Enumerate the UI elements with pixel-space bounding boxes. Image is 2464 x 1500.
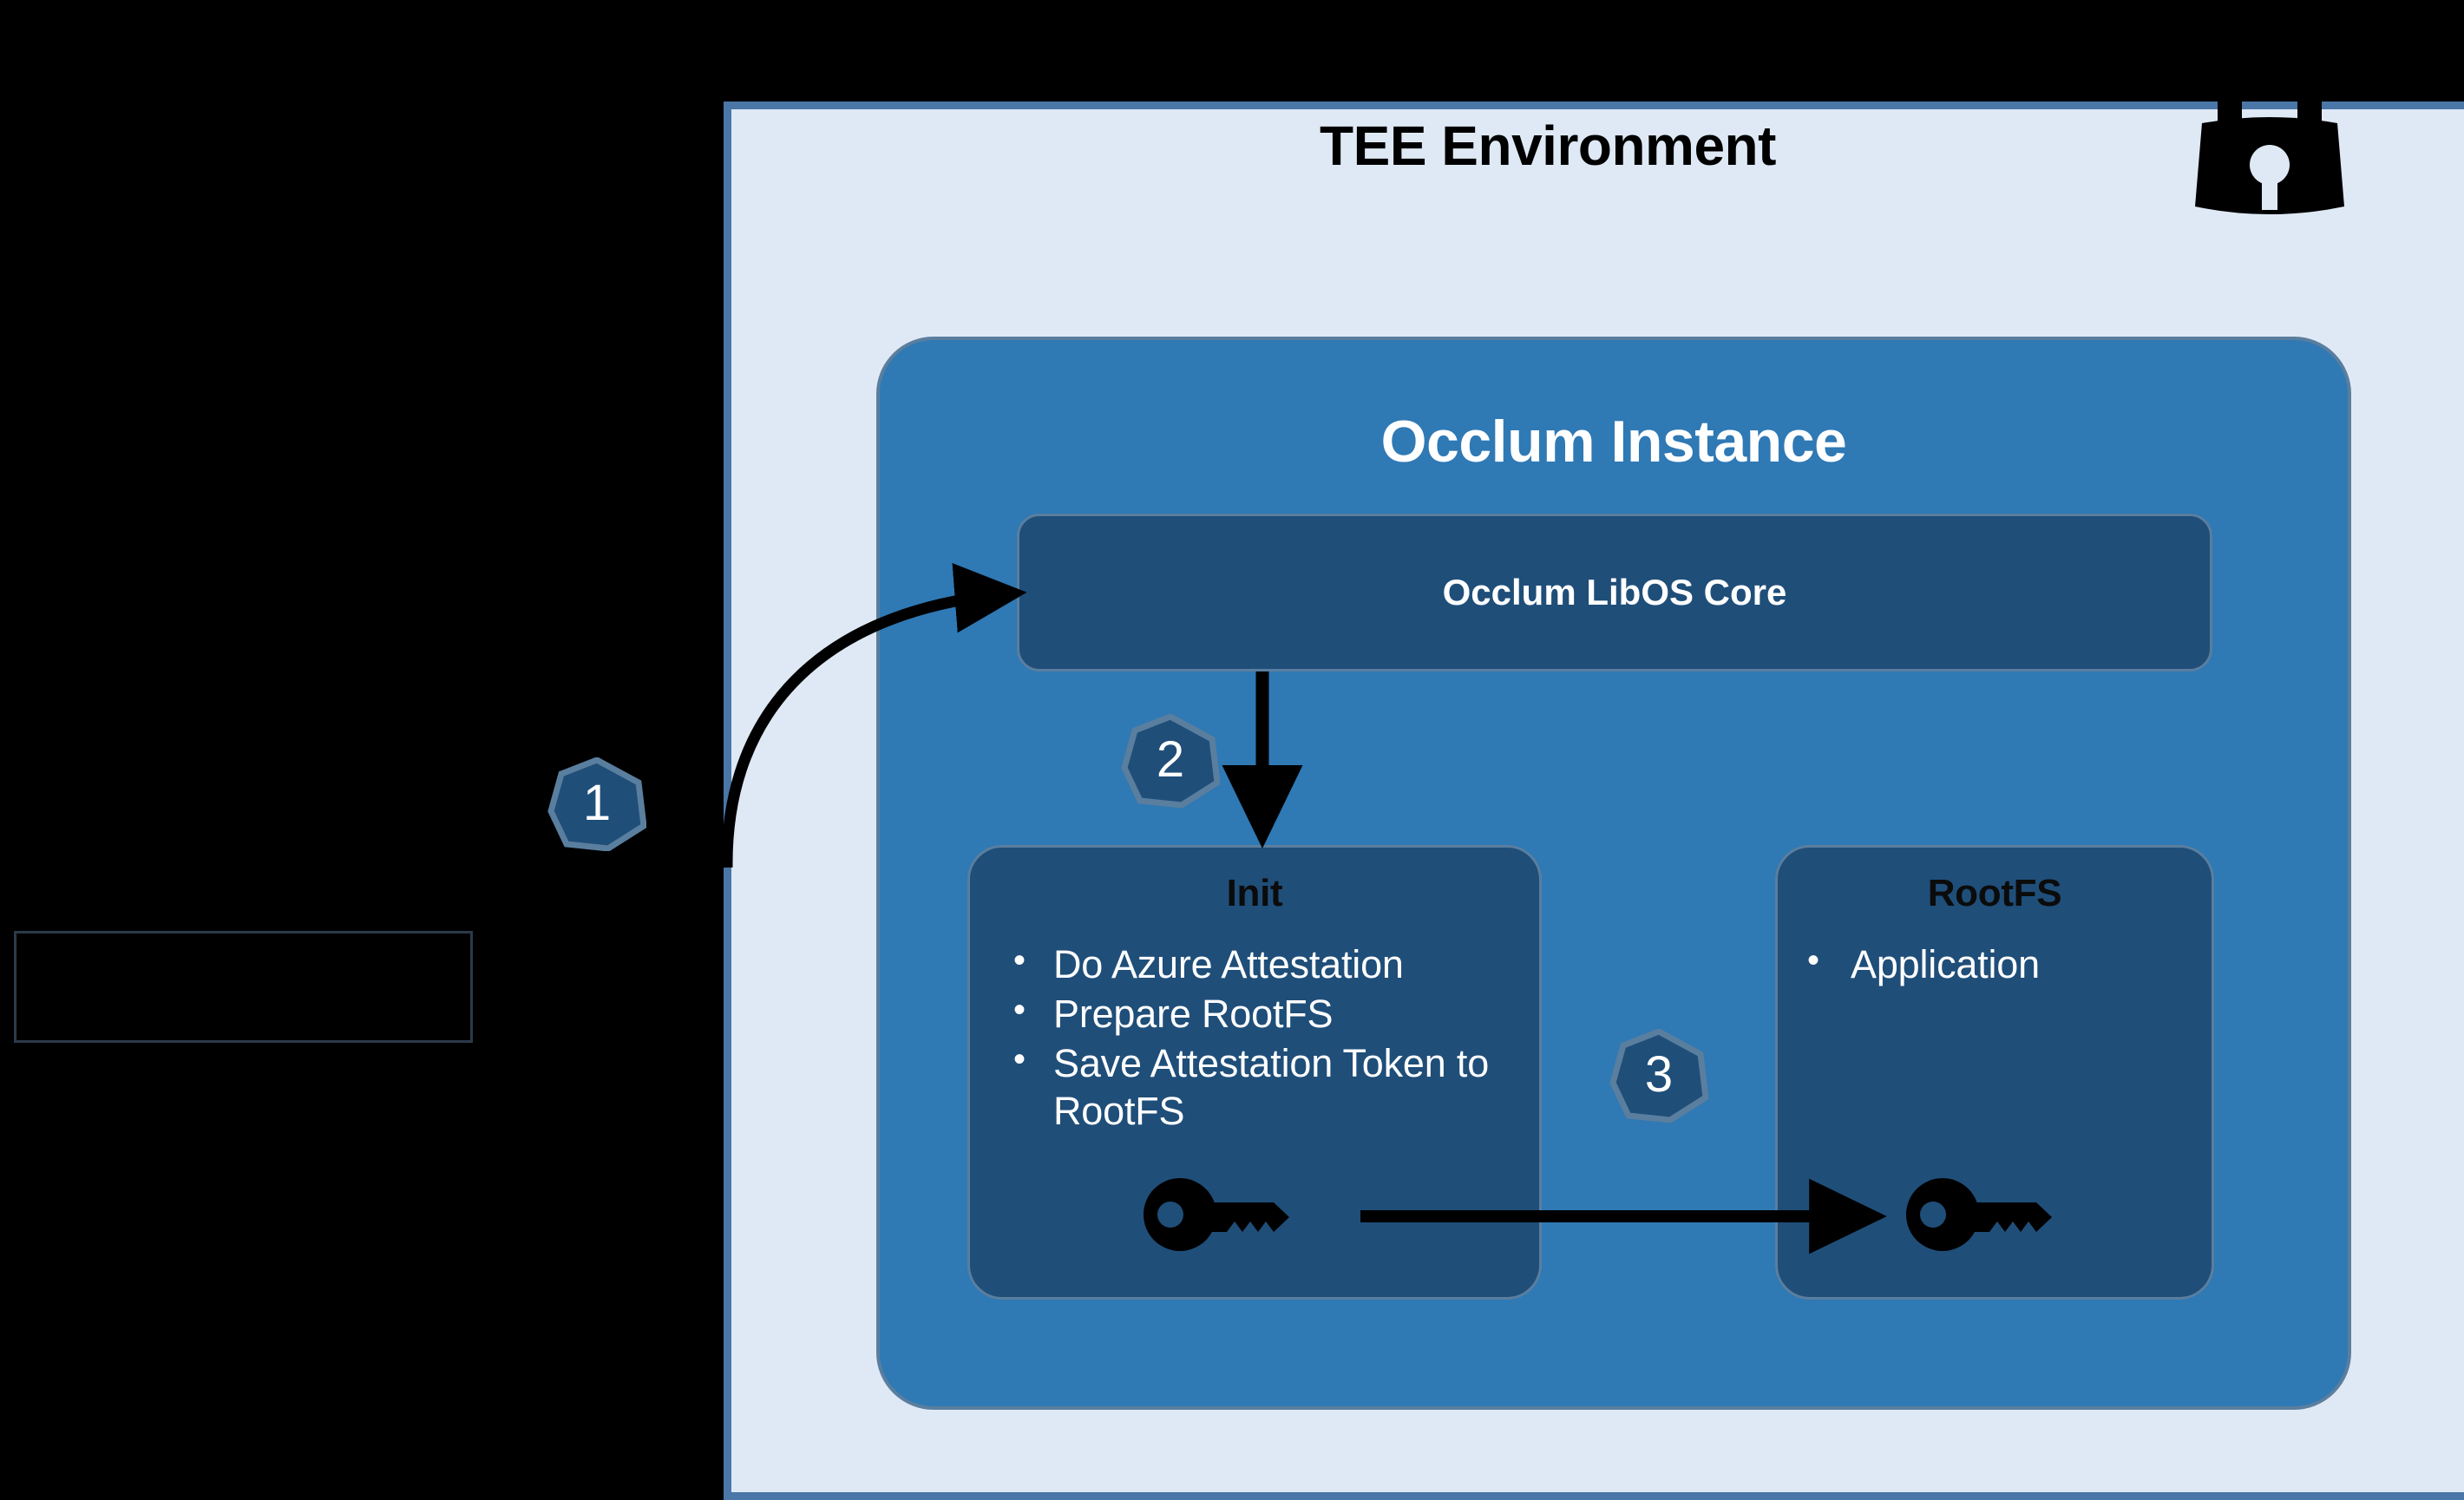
diagram-canvas: TEE Environment Occlum Instance Occlum L…	[0, 0, 2464, 1500]
step-badge-1: 1	[547, 757, 646, 851]
rootfs-bullet-list: Application	[1783, 941, 2201, 991]
rootfs-title: RootFS	[1778, 872, 2212, 915]
list-item: Application	[1783, 941, 2201, 989]
init-title: Init	[970, 872, 1539, 915]
init-bullet-list: Do Azure Attestation Prepare RootFS Save…	[999, 941, 1529, 1137]
occlum-libos-core-box: Occlum LibOS Core	[1017, 514, 2212, 671]
key-icon	[1906, 1178, 2071, 1251]
step-badge-2-label: 2	[1121, 714, 1220, 808]
occlum-instance-title: Occlum Instance	[876, 408, 2351, 475]
list-item: Do Azure Attestation	[999, 941, 1529, 989]
empty-outline-box	[14, 931, 473, 1043]
step-badge-1-label: 1	[547, 757, 646, 851]
list-item: Save Attestation Token to RootFS	[999, 1040, 1529, 1136]
step-badge-3: 3	[1609, 1029, 1708, 1123]
lock-icon	[2174, 52, 2365, 260]
occlum-libos-core-label: Occlum LibOS Core	[1443, 572, 1787, 613]
key-icon	[1144, 1178, 1308, 1251]
list-item: Prepare RootFS	[999, 991, 1529, 1038]
step-badge-2: 2	[1121, 714, 1220, 808]
step-badge-3-label: 3	[1609, 1029, 1708, 1123]
tee-environment-title: TEE Environment	[724, 117, 2372, 175]
